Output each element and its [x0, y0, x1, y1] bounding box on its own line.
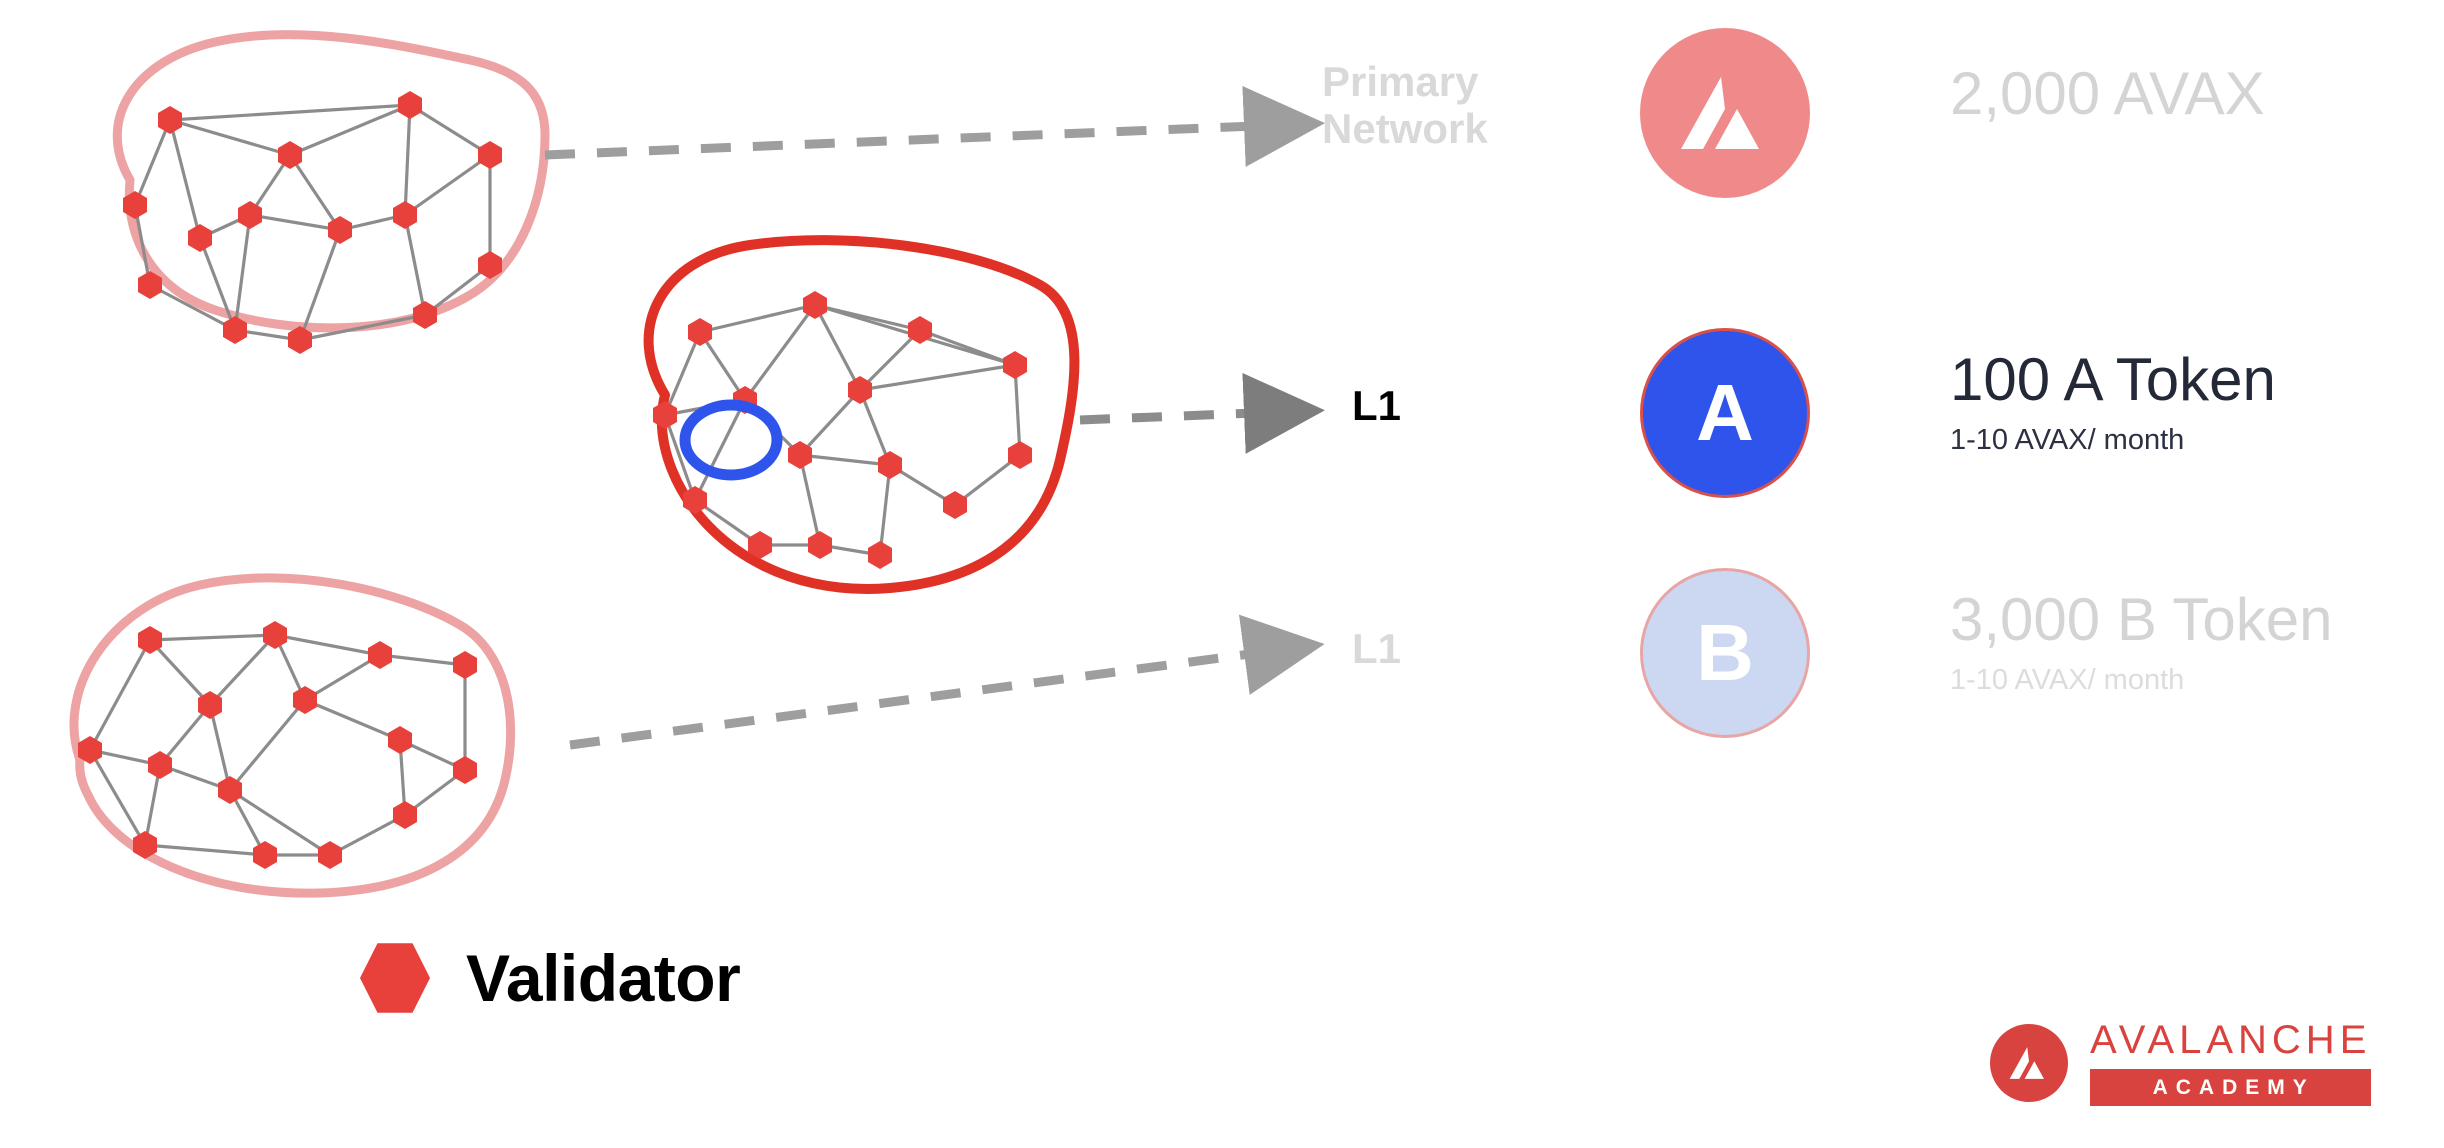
- stake-fee-l1-a: 1-10 AVAX/ month: [1950, 423, 2276, 458]
- network-edges-primary: [135, 105, 490, 340]
- token-b-letter: B: [1696, 613, 1754, 693]
- avalanche-logo-icon: [2007, 1043, 2051, 1083]
- network-l1-b: [74, 578, 511, 893]
- stake-amount-primary: 2,000 AVAX: [1950, 62, 2265, 125]
- network-label-l1-b: L1: [1352, 625, 1401, 672]
- network-l1-a: [649, 240, 1075, 589]
- network-nodes-primary: [123, 91, 502, 354]
- stake-info-l1-a: 100 A Token 1-10 AVAX/ month: [1950, 348, 2276, 458]
- brand-wordmark: AVALANCHE ACADEMY: [2090, 1020, 2371, 1106]
- avalanche-token-badge: [1640, 28, 1810, 198]
- token-a-badge: A: [1640, 328, 1810, 498]
- brand-name: AVALANCHE: [2090, 1020, 2371, 1060]
- diagram-canvas: Primary Network L1 L1 A B 2,000 AVAX 100…: [0, 0, 2444, 1148]
- stake-info-primary: 2,000 AVAX: [1950, 62, 2265, 125]
- network-primary: [117, 35, 545, 354]
- stake-amount-l1-a: 100 A Token: [1950, 348, 2276, 411]
- token-b-badge: B: [1640, 568, 1810, 738]
- avalanche-logo-icon: [1675, 69, 1775, 157]
- connector-l1-a: [1080, 412, 1280, 420]
- network-outline-l1-a: [649, 240, 1075, 589]
- token-a-letter: A: [1696, 373, 1754, 453]
- brand-mark: [1990, 1024, 2068, 1102]
- connector-l1-b: [570, 650, 1280, 745]
- selected-validator-highlight: [685, 405, 777, 475]
- stake-info-l1-b: 3,000 B Token 1-10 AVAX/ month: [1950, 588, 2333, 698]
- brand-sub: ACADEMY: [2090, 1069, 2371, 1106]
- network-label-l1-a: L1: [1352, 382, 1401, 429]
- legend: Validator: [360, 940, 740, 1016]
- connector-primary: [545, 125, 1280, 155]
- network-label-primary: Primary Network: [1322, 58, 1582, 152]
- legend-label: Validator: [466, 940, 740, 1016]
- validator-hexagon-icon: [360, 941, 430, 1015]
- brand-logo: AVALANCHE ACADEMY: [1990, 1020, 2371, 1106]
- network-outline-primary: [117, 35, 545, 328]
- stake-amount-l1-b: 3,000 B Token: [1950, 588, 2333, 651]
- stake-fee-l1-b: 1-10 AVAX/ month: [1950, 663, 2333, 698]
- network-edges-l1-a: [665, 305, 1020, 555]
